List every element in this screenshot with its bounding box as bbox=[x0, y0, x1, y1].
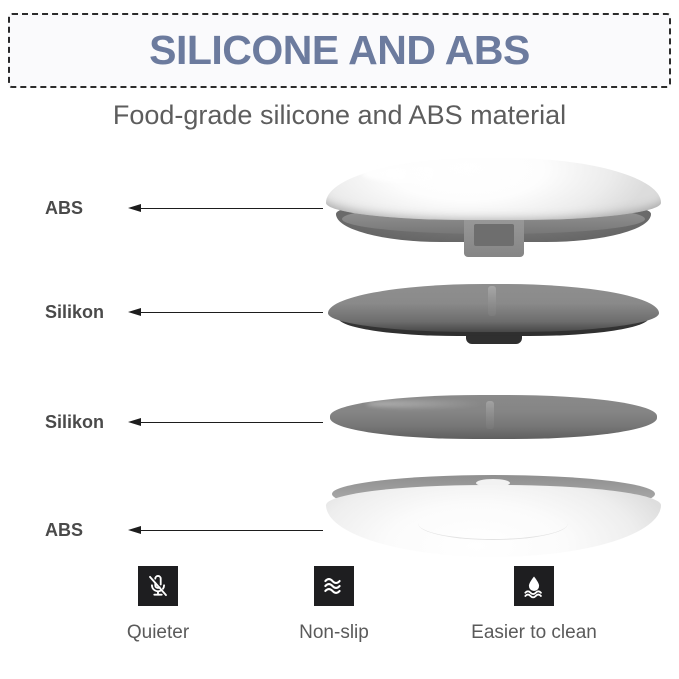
feature-label: Quieter bbox=[58, 622, 258, 644]
lid-gloss-highlight bbox=[362, 164, 512, 184]
arrow-line bbox=[134, 530, 323, 531]
product-layer-silicone-lower bbox=[326, 395, 661, 447]
water-drop-icon bbox=[514, 566, 554, 606]
silicone-lower-highlight bbox=[366, 400, 486, 408]
callout-arrow-4 bbox=[128, 525, 323, 537]
lid-tab-notch bbox=[474, 224, 514, 246]
page-title: SILICONE AND ABS bbox=[10, 15, 669, 86]
lid-dome-surface bbox=[326, 158, 661, 220]
product-layer-abs-lid bbox=[326, 158, 661, 258]
arrow-line bbox=[134, 312, 323, 313]
silicone-lower-seam bbox=[486, 401, 494, 429]
title-banner: SILICONE AND ABS bbox=[8, 13, 671, 88]
arrow-line bbox=[134, 422, 323, 423]
product-exploded-view bbox=[326, 150, 661, 560]
callout-arrow-1 bbox=[128, 203, 323, 215]
feature-label: Non-slip bbox=[234, 622, 434, 644]
base-crease-line bbox=[418, 507, 568, 540]
silicone-upper-seam bbox=[488, 286, 496, 316]
callout-arrow-3 bbox=[128, 417, 323, 429]
base-outer-shell bbox=[326, 485, 661, 557]
microphone-muted-icon bbox=[138, 566, 178, 606]
waves-icon bbox=[314, 566, 354, 606]
product-layer-abs-base bbox=[326, 475, 661, 561]
layer-label-abs-top: ABS bbox=[45, 198, 83, 219]
layer-label-silikon-upper: Silikon bbox=[45, 302, 104, 323]
layer-label-abs-bottom: ABS bbox=[45, 520, 83, 541]
arrow-line bbox=[134, 208, 323, 209]
feature-label: Easier to clean bbox=[434, 622, 634, 644]
feature-quieter: Quieter bbox=[58, 566, 258, 644]
feature-non-slip: Non-slip bbox=[234, 566, 434, 644]
callout-arrow-2 bbox=[128, 307, 323, 319]
feature-easier-to-clean: Easier to clean bbox=[434, 566, 634, 644]
page-subtitle: Food-grade silicone and ABS material bbox=[0, 100, 679, 131]
product-layer-silicone-upper bbox=[326, 280, 661, 348]
layer-label-silikon-lower: Silikon bbox=[45, 412, 104, 433]
feature-row: Quieter Non-slip Easier to clean bbox=[0, 566, 679, 656]
